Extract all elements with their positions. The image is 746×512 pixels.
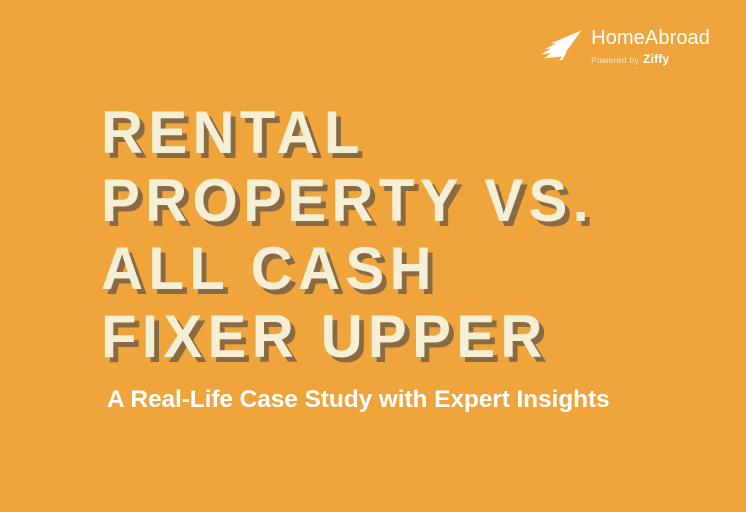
subtitle: A Real-Life Case Study with Expert Insig… <box>107 385 610 415</box>
headline-line-4: FIXER UPPER <box>101 303 594 371</box>
brand-lockup: HomeAbroad Powered by Ziffy <box>540 28 710 65</box>
brand-wordmark: HomeAbroad <box>591 28 710 48</box>
headline-line-1: RENTAL <box>101 99 594 167</box>
headline-line-3: ALL CASH <box>101 235 594 303</box>
headline-line-2: PROPERTY VS. <box>101 167 594 235</box>
brand-powered-name: Ziffy <box>643 53 669 65</box>
brand-powered-prefix: Powered by <box>591 56 639 65</box>
title-slide: HomeAbroad Powered by Ziffy RENTAL PROPE… <box>0 0 746 512</box>
brand-text-block: HomeAbroad Powered by Ziffy <box>591 28 710 65</box>
paper-plane-icon <box>540 30 582 64</box>
brand-powered-by: Powered by Ziffy <box>591 53 669 65</box>
page-title: RENTAL PROPERTY VS. ALL CASH FIXER UPPER <box>101 99 609 371</box>
